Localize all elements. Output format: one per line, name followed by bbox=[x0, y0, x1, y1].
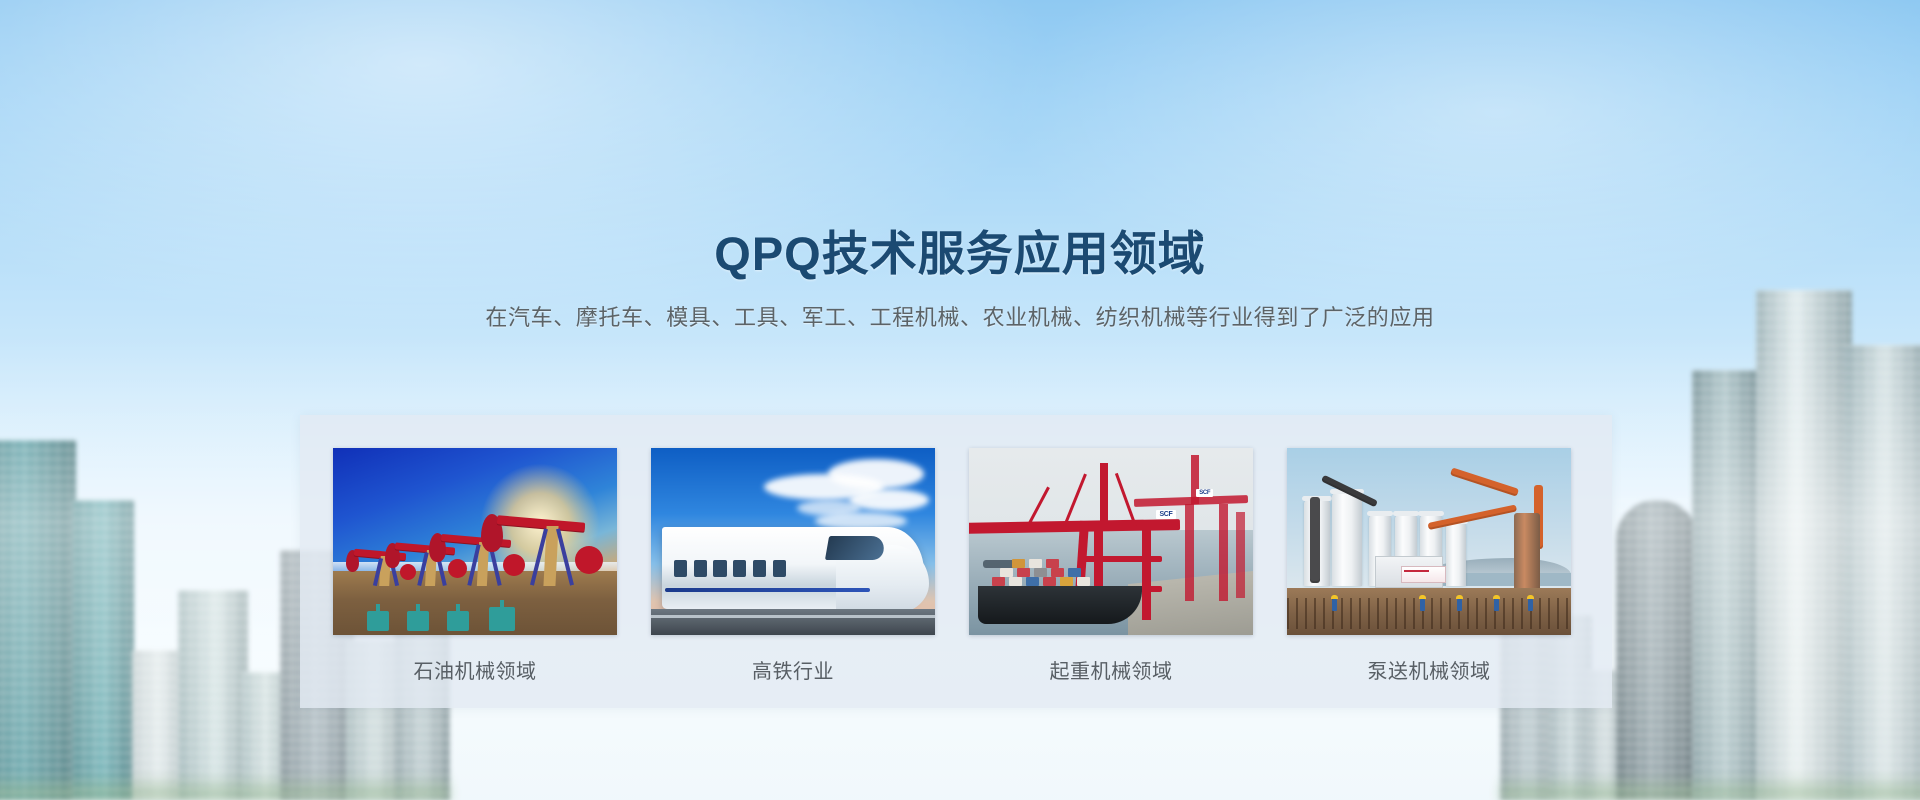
application-fields-panel: 石油机械领域 bbox=[300, 415, 1612, 708]
concrete-pump-silo-illustration bbox=[1287, 448, 1571, 635]
card-image-concrete-pump[interactable] bbox=[1287, 448, 1571, 635]
oil-pumpjack-illustration bbox=[333, 448, 617, 635]
page-title: QPQ技术服务应用领域 bbox=[0, 228, 1920, 281]
card-image-high-speed-train[interactable] bbox=[651, 448, 935, 635]
hero-section: QPQ技术服务应用领域 在汽车、摩托车、模具、工具、军工、工程机械、农业机械、纺… bbox=[0, 228, 1920, 332]
card-pumping-machinery[interactable]: 泵送机械领域 bbox=[1287, 448, 1571, 684]
high-speed-train-illustration bbox=[651, 448, 935, 635]
card-label: 高铁行业 bbox=[651, 655, 935, 684]
port-gantry-crane-illustration: SCF SCF bbox=[969, 448, 1253, 635]
card-label: 石油机械领域 bbox=[333, 655, 617, 684]
card-high-speed-rail[interactable]: 高铁行业 bbox=[651, 448, 935, 684]
card-oil-machinery[interactable]: 石油机械领域 bbox=[333, 448, 617, 684]
card-image-port-cranes[interactable]: SCF SCF bbox=[969, 448, 1253, 635]
card-label: 起重机械领域 bbox=[969, 655, 1253, 684]
page-subtitle: 在汽车、摩托车、模具、工具、军工、工程机械、农业机械、纺织机械等行业得到了广泛的… bbox=[0, 300, 1920, 332]
card-image-oil-pumpjacks[interactable] bbox=[333, 448, 617, 635]
card-label: 泵送机械领域 bbox=[1287, 655, 1571, 684]
card-list: 石油机械领域 bbox=[300, 415, 1612, 684]
card-lifting-machinery[interactable]: SCF SCF bbox=[969, 448, 1253, 684]
